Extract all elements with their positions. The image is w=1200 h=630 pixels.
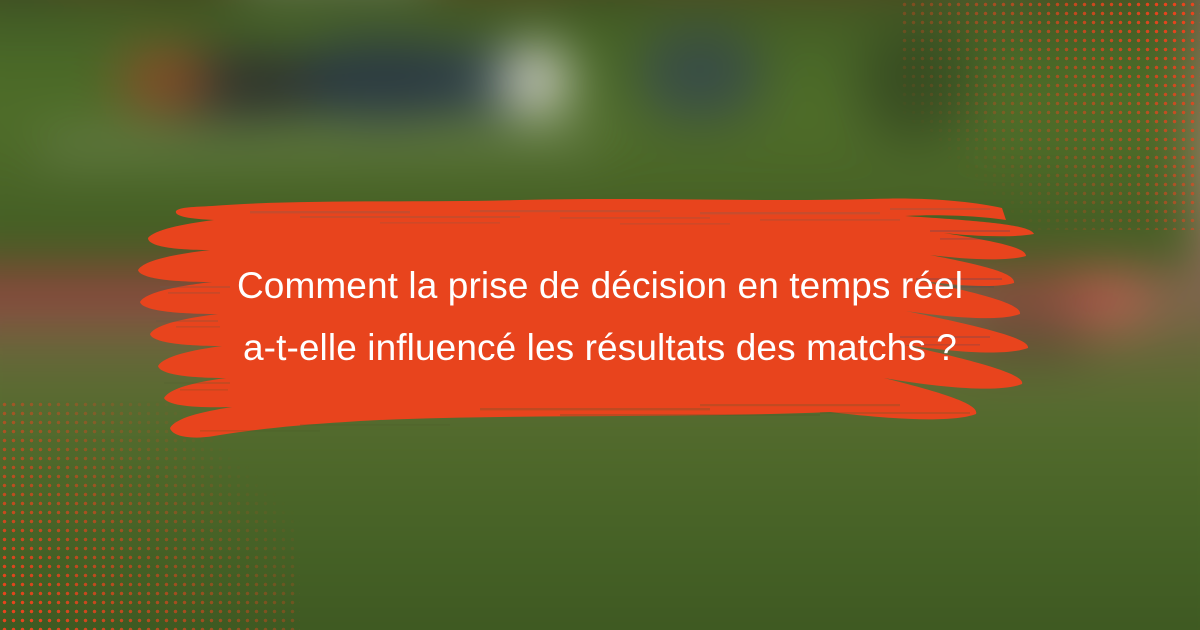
social-share-card: Comment la prise de décision en temps ré… — [0, 0, 1200, 630]
headline-line-2: a-t-elle influencé les résultats des mat… — [243, 320, 957, 376]
headline-line-1: Comment la prise de décision en temps ré… — [237, 258, 963, 314]
headline-block: Comment la prise de décision en temps ré… — [0, 186, 1200, 448]
